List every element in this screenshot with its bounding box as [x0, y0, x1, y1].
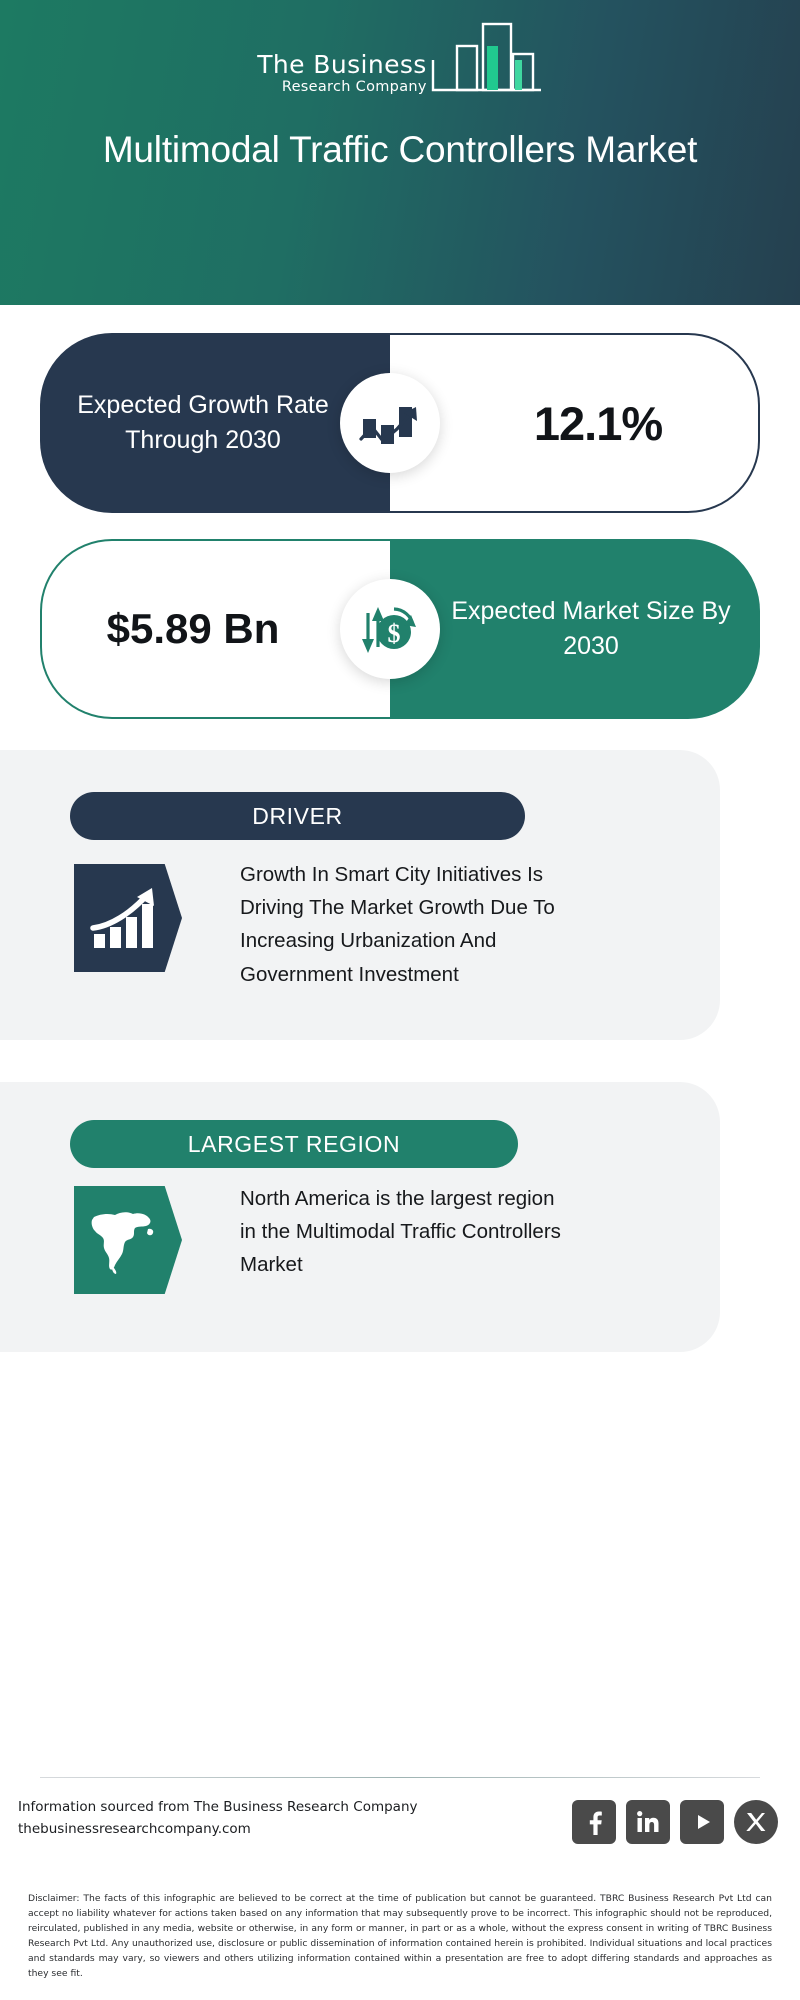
facebook-icon[interactable] — [572, 1800, 616, 1844]
growth-rate-value-block: 12.1% — [390, 333, 760, 513]
logo-line-1: The Business — [257, 52, 427, 78]
largest-region-body-text: North America is the largest region in t… — [240, 1182, 570, 1282]
stat-growth-rate: Expected Growth Rate Through 2030 12.1% — [40, 333, 760, 513]
company-logo: The Business Research Company — [0, 20, 800, 103]
ascending-bars-arrow-icon — [74, 864, 182, 972]
x-twitter-icon[interactable] — [734, 1800, 778, 1844]
growth-rate-label-block: Expected Growth Rate Through 2030 — [40, 333, 390, 513]
market-size-label: Expected Market Size By 2030 — [390, 594, 760, 665]
logo-wordmark: The Business Research Company — [257, 52, 427, 103]
footer-source: Information sourced from The Business Re… — [18, 1797, 418, 1841]
driver-icon-shape — [74, 864, 182, 972]
driver-panel: DRIVER Growth In Smart City Initiatives … — [0, 750, 720, 1040]
market-size-value-block: $5.89 Bn — [40, 539, 390, 719]
growth-chart-arrow-icon — [340, 373, 440, 473]
logo-line-2: Research Company — [282, 78, 427, 97]
footer-source-line-2[interactable]: thebusinessresearchcompany.com — [18, 1819, 418, 1841]
social-links — [572, 1800, 778, 1844]
page-title: Multimodal Traffic Controllers Market — [40, 128, 760, 172]
growth-rate-label: Expected Growth Rate Through 2030 — [40, 388, 390, 459]
driver-heading-pill: DRIVER — [70, 792, 525, 840]
driver-heading: DRIVER — [252, 803, 343, 830]
dollar-cycle-icon: $ — [340, 579, 440, 679]
linkedin-icon[interactable] — [626, 1800, 670, 1844]
stat-market-size: $5.89 Bn Expected Market Size By 2030 $ — [40, 539, 760, 719]
disclaimer-text: Disclaimer: The facts of this infographi… — [28, 1892, 772, 1981]
largest-region-heading: LARGEST REGION — [188, 1131, 400, 1158]
largest-region-panel: LARGEST REGION North America is the larg… — [0, 1082, 720, 1352]
footer-divider — [40, 1777, 760, 1778]
largest-region-heading-pill: LARGEST REGION — [70, 1120, 518, 1168]
bar-chart-logo-icon — [431, 20, 543, 103]
growth-rate-value: 12.1% — [486, 396, 662, 451]
svg-text:$: $ — [388, 619, 401, 648]
north-america-map-icon — [74, 1186, 182, 1294]
youtube-icon[interactable] — [680, 1800, 724, 1844]
market-size-value: $5.89 Bn — [107, 603, 326, 656]
infographic-page: The Business Research Company — [0, 0, 800, 2000]
market-size-label-block: Expected Market Size By 2030 — [390, 539, 760, 719]
header-banner: The Business Research Company — [0, 0, 800, 305]
driver-body-text: Growth In Smart City Initiatives Is Driv… — [240, 858, 580, 991]
footer-source-line-1: Information sourced from The Business Re… — [18, 1797, 418, 1819]
region-icon-shape — [74, 1186, 182, 1294]
